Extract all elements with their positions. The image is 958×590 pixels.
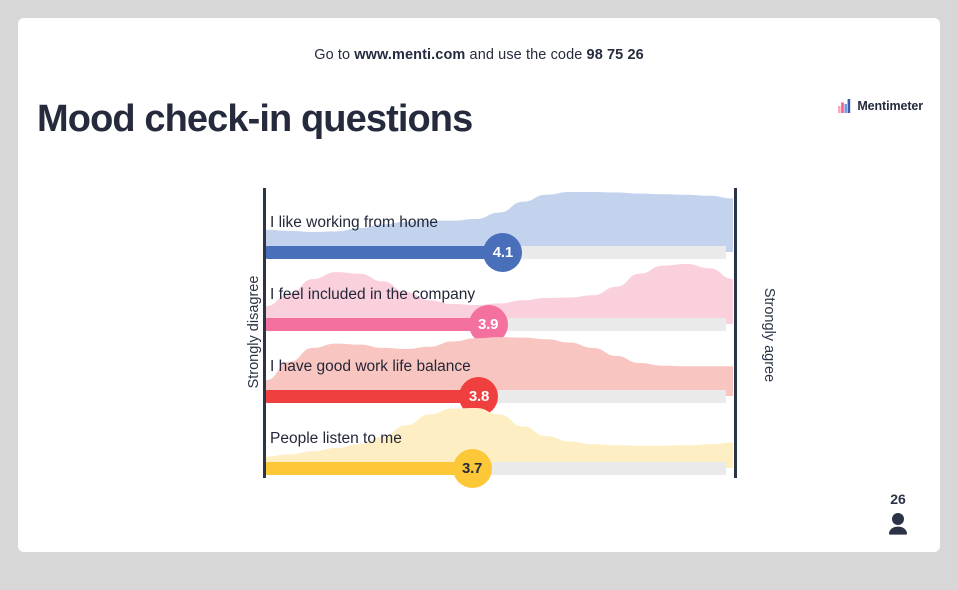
scale-row: I like working from home4.1 xyxy=(266,190,733,262)
join-instruction: Go to www.menti.com and use the code 98 … xyxy=(18,47,940,63)
scales-chart: Strongly disagree Strongly agree I like … xyxy=(227,168,787,493)
presentation-slide: Go to www.menti.com and use the code 98 … xyxy=(18,18,940,552)
join-middle: and use the code xyxy=(465,47,586,63)
scale-row: I feel included in the company3.9 xyxy=(266,262,733,334)
join-url: www.menti.com xyxy=(354,47,465,63)
score-bubble: 3.7 xyxy=(453,449,492,488)
question-label: People listen to me xyxy=(270,430,402,448)
join-prefix: Go to xyxy=(314,47,354,63)
axis-label-strongly-agree: Strongly agree xyxy=(761,255,777,415)
mentimeter-logo-icon xyxy=(838,99,851,113)
score-fill xyxy=(266,246,503,259)
score-fill xyxy=(266,390,479,403)
participant-counter: 26 xyxy=(870,492,926,536)
chart-plot-area: I like working from home4.1I feel includ… xyxy=(266,188,733,478)
mentimeter-brand: Mentimeter xyxy=(838,99,923,113)
participant-count: 26 xyxy=(870,492,926,506)
question-label: I like working from home xyxy=(270,214,438,232)
slide-viewer: Go to www.menti.com and use the code 98 … xyxy=(0,0,958,590)
mentimeter-brand-name: Mentimeter xyxy=(857,99,923,113)
question-label: I feel included in the company xyxy=(270,286,475,304)
join-code: 98 75 26 xyxy=(587,47,644,63)
axis-line-right xyxy=(734,188,737,478)
scale-row: People listen to me3.7 xyxy=(266,406,733,478)
score-fill xyxy=(266,318,488,331)
page-title: Mood check-in questions xyxy=(37,98,472,141)
scale-row: I have good work life balance3.8 xyxy=(266,334,733,406)
axis-label-strongly-disagree: Strongly disagree xyxy=(246,247,262,417)
score-track xyxy=(266,462,726,475)
question-label: I have good work life balance xyxy=(270,358,471,376)
score-fill xyxy=(266,462,472,475)
person-icon xyxy=(887,512,909,536)
